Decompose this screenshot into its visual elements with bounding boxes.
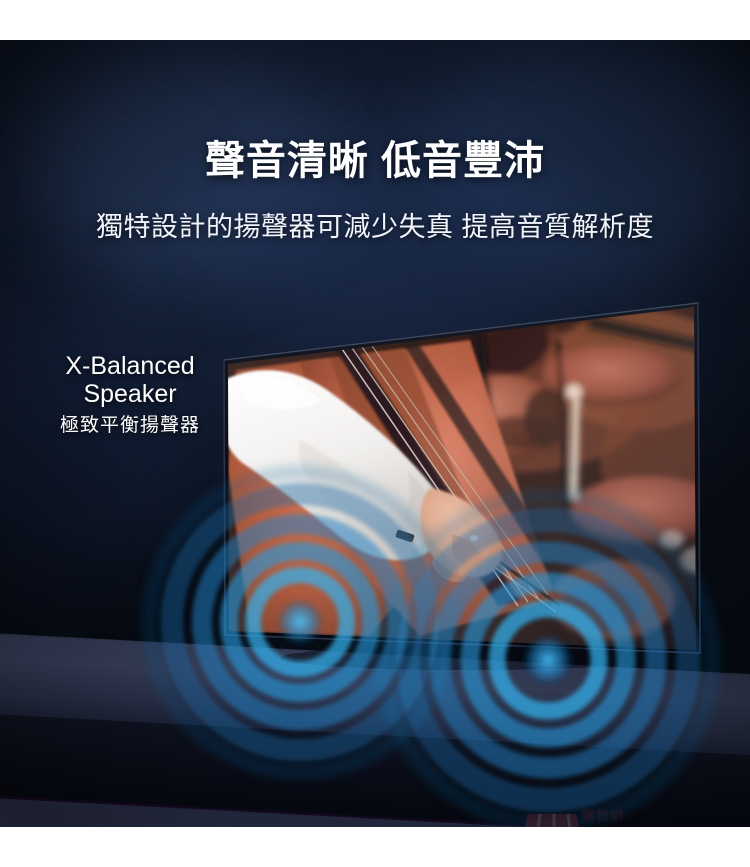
feature-name-en: X-Balanced Speaker xyxy=(24,352,236,408)
feature-name-en-line2: Speaker xyxy=(24,380,236,408)
letterbox-bottom xyxy=(0,827,750,867)
feature-name-en-line1: X-Balanced xyxy=(65,352,194,380)
feature-badge: X-Balanced Speaker 極致平衡揚聲器 xyxy=(24,352,236,437)
feature-name-zh: 極致平衡揚聲器 xyxy=(24,415,236,437)
scene-backdrop: 聲音清晰 低音豐沛 獨特設計的揚聲器可減少失真 提高音質解析度 X-Balanc… xyxy=(0,40,750,827)
product-feature-banner: 聲音清晰 低音豐沛 獨特設計的揚聲器可減少失真 提高音質解析度 X-Balanc… xyxy=(0,0,750,867)
letterbox-top xyxy=(0,0,750,40)
page-title: 聲音清晰 低音豐沛 xyxy=(0,128,750,186)
page-subtitle: 獨特設計的揚聲器可減少失真 提高音質解析度 xyxy=(0,205,750,244)
